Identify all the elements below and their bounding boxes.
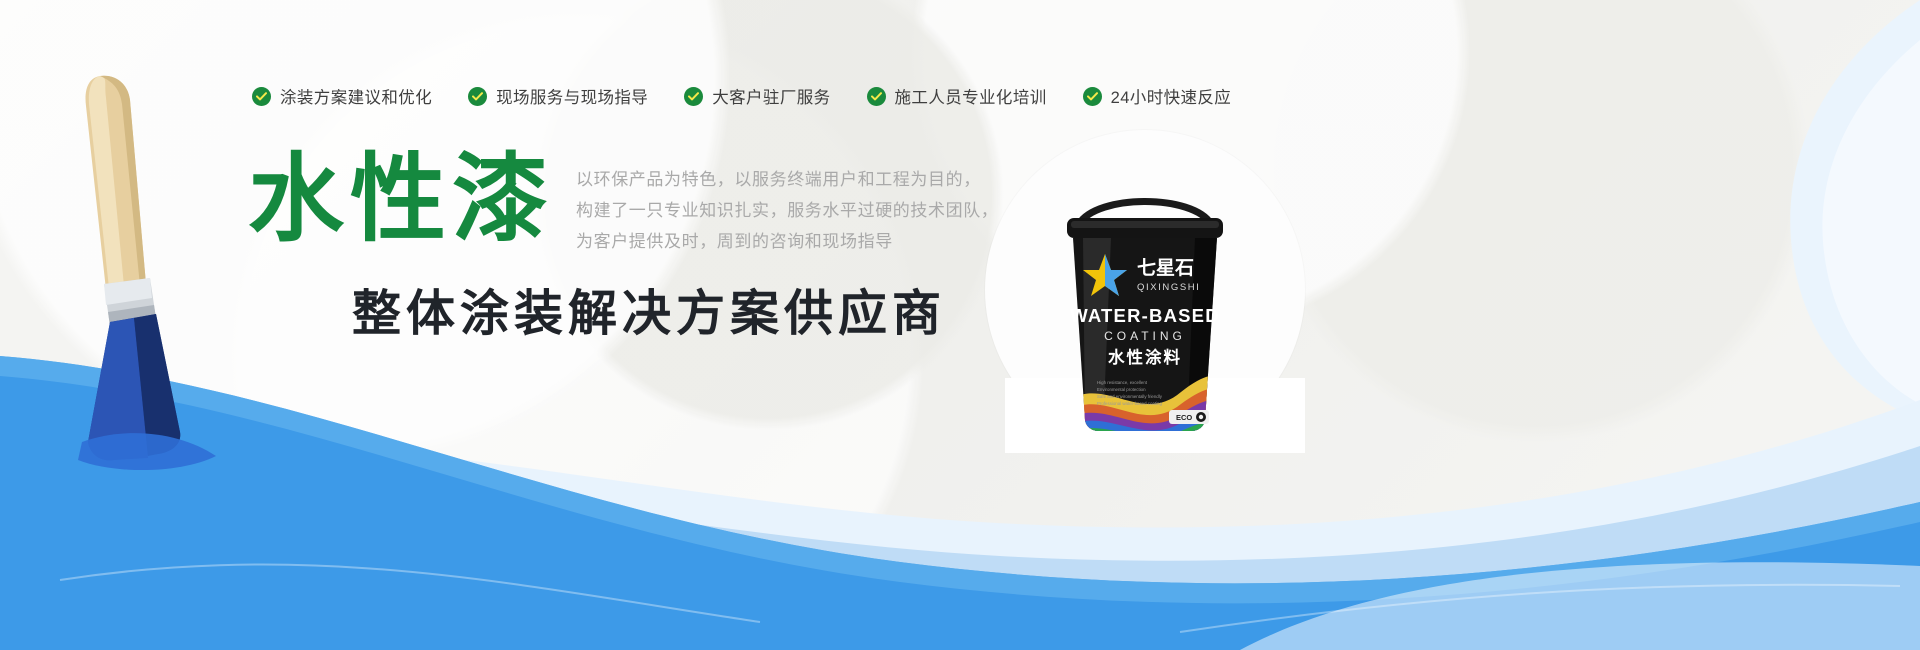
svg-text:七星石: 七星石 — [1137, 257, 1194, 279]
svg-text:High resistance, excellent: High resistance, excellent — [1097, 380, 1148, 385]
product-showcase: 七星石 QIXINGSHI WATER-BASED COATING 水性涂料 H… — [985, 130, 1330, 440]
svg-text:COATING: COATING — [1104, 329, 1186, 343]
check-circle-icon — [684, 87, 703, 106]
svg-text:水性涂料: 水性涂料 — [1108, 347, 1182, 367]
check-circle-icon — [252, 87, 271, 106]
svg-text:Environmental protection: Environmental protection — [1097, 387, 1146, 392]
svg-text:Professional water-based coati: Professional water-based coating — [1097, 401, 1162, 406]
promo-banner: 涂装方案建议和优化 现场服务与现场指导 大客户驻厂服务 施工人员专业化培训 24 — [0, 0, 1920, 650]
check-circle-icon — [867, 87, 886, 106]
feature-label: 大客户驻厂服务 — [712, 84, 830, 108]
intro-paragraph-line: 为客户提供及时，周到的咨询和现场指导 — [576, 226, 998, 257]
feature-item[interactable]: 现场服务与现场指导 — [468, 84, 648, 108]
svg-text:Safe and environmentally frien: Safe and environmentally friendly — [1097, 394, 1163, 399]
feature-item[interactable]: 大客户驻厂服务 — [684, 84, 830, 108]
feature-list: 涂装方案建议和优化 现场服务与现场指导 大客户驻厂服务 施工人员专业化培训 24 — [252, 84, 1231, 108]
page-subtitle: 整体涂装解决方案供应商 — [352, 286, 946, 342]
intro-paragraph-line: 以环保产品为特色，以服务终端用户和工程为目的， — [576, 164, 998, 195]
page-title: 水性漆 — [248, 152, 554, 248]
svg-text:WATER-BASED: WATER-BASED — [1070, 305, 1220, 326]
svg-text:QIXINGSHI: QIXINGSHI — [1137, 282, 1201, 293]
feature-label: 现场服务与现场指导 — [496, 84, 648, 108]
intro-paragraph: 以环保产品为特色，以服务终端用户和工程为目的， 构建了一只专业知识扎实，服务水平… — [576, 164, 998, 257]
feature-item[interactable]: 涂装方案建议和优化 — [252, 84, 432, 108]
feature-item[interactable]: 施工人员专业化培训 — [867, 84, 1047, 108]
svg-text:ECO: ECO — [1176, 413, 1192, 422]
intro-paragraph-line: 构建了一只专业知识扎实，服务水平过硬的技术团队， — [576, 195, 998, 226]
wave-decoration — [0, 250, 1920, 650]
paintbrush-illustration — [30, 60, 250, 480]
paint-bucket-image: 七星石 QIXINGSHI WATER-BASED COATING 水性涂料 H… — [1045, 188, 1245, 433]
feature-label: 24小时快速反应 — [1111, 84, 1232, 108]
check-circle-icon — [468, 87, 487, 106]
headline-row: 水性漆 以环保产品为特色，以服务终端用户和工程为目的， 构建了一只专业知识扎实，… — [248, 152, 998, 257]
feature-label: 涂装方案建议和优化 — [280, 84, 432, 108]
check-circle-icon — [1083, 87, 1102, 106]
eco-badge: ECO — [1169, 410, 1209, 424]
feature-item[interactable]: 24小时快速反应 — [1083, 84, 1232, 108]
feature-label: 施工人员专业化培训 — [895, 84, 1047, 108]
